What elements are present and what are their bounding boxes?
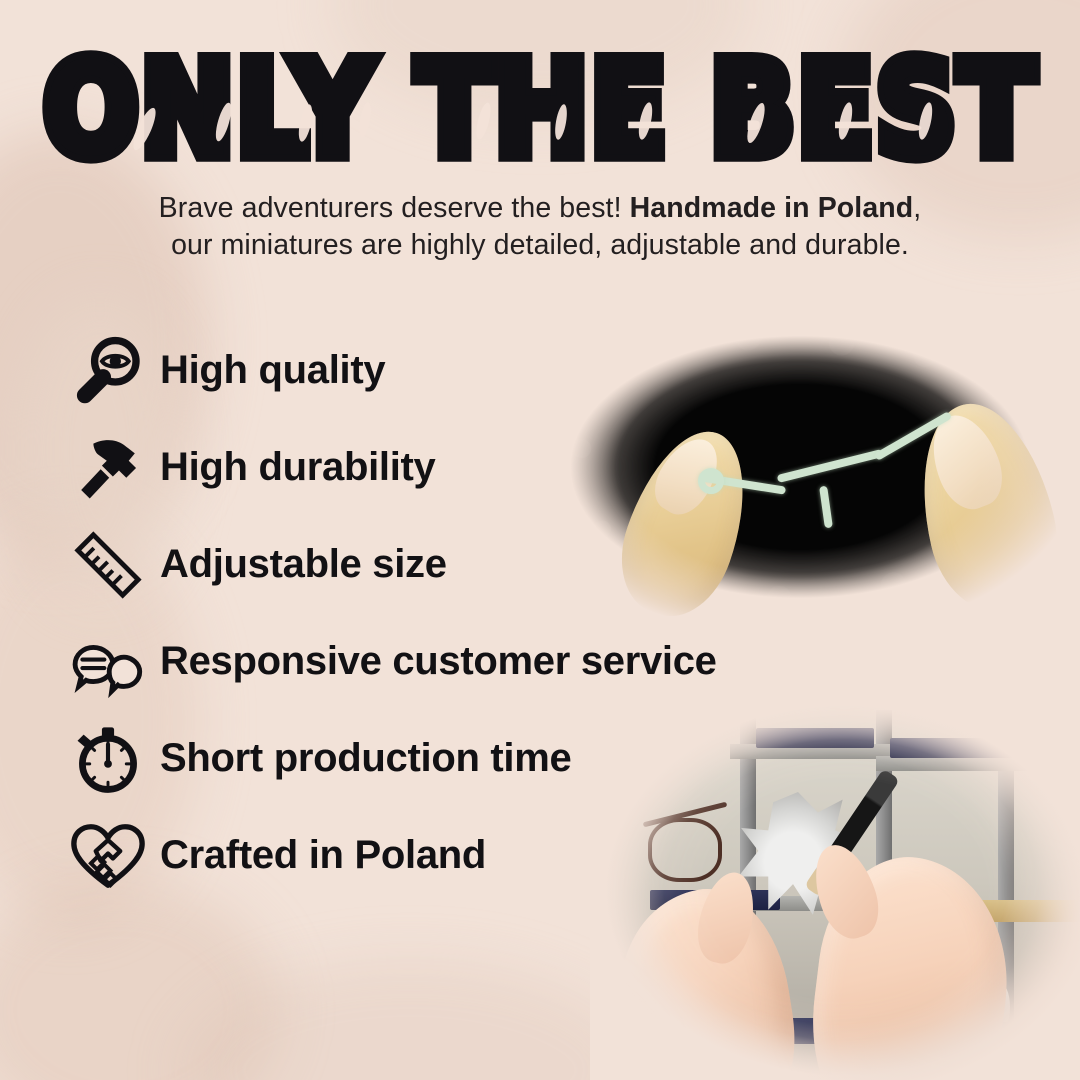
- feature-label: High quality: [160, 348, 385, 393]
- parts-tray: [890, 738, 1066, 758]
- speech-bubbles-icon: [62, 616, 154, 708]
- subtitle-comma: ,: [913, 192, 921, 224]
- subtitle-lead: Brave adventurers deserve the best!: [159, 192, 630, 224]
- hammer-icon: [62, 422, 154, 514]
- subtitle-line-2: our miniatures are highly detailed, adju…: [171, 229, 909, 261]
- background-texture-blob: [180, 960, 640, 1080]
- magnifier-eye-icon: [62, 325, 154, 417]
- shelf-beam: [876, 756, 1080, 771]
- workshop-crafting-photo: [590, 700, 1080, 1080]
- flexible-miniature-photo: [540, 312, 1060, 622]
- subtitle-bold-phrase: Handmade in Poland: [630, 192, 914, 224]
- stopwatch-icon: [62, 713, 154, 805]
- feature-item-customer-service: Responsive customer service: [62, 613, 822, 710]
- headline-container: ONLY THE BEST: [0, 44, 1080, 158]
- workshop-scene: [590, 700, 1080, 1080]
- eyeglasses: [648, 818, 722, 882]
- handshake-heart-icon: [62, 810, 154, 902]
- parts-tray: [756, 728, 874, 748]
- feature-label: Short production time: [160, 736, 571, 781]
- feature-label: High durability: [160, 445, 436, 490]
- subtitle: Brave adventurers deserve the best! Hand…: [90, 190, 990, 264]
- poster-root: ONLY THE BEST Brave adventurers deserve …: [0, 0, 1080, 1080]
- ruler-icon: [62, 519, 154, 611]
- feature-label: Adjustable size: [160, 542, 447, 587]
- feature-label: Responsive customer service: [160, 639, 717, 684]
- feature-label: Crafted in Poland: [160, 833, 486, 878]
- background-texture-blob: [0, 880, 280, 1080]
- miniature-loop: [698, 468, 724, 494]
- page-title: ONLY THE BEST: [43, 44, 1037, 177]
